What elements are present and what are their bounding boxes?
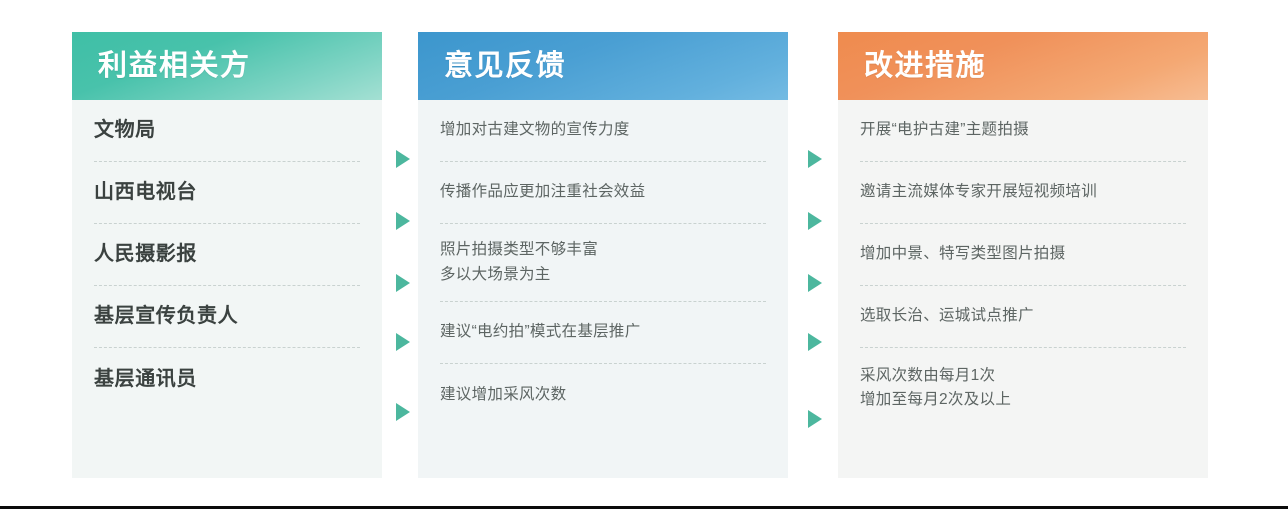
stakeholder-label: 人民摄影报	[94, 242, 197, 267]
feedback-text: 传播作品应更加注重社会效益	[440, 180, 645, 204]
column-title-measures: 改进措施	[864, 52, 986, 81]
feedback-text: 建议“电约拍”模式在基层推广	[440, 320, 641, 344]
arrow-gutter-right	[800, 32, 840, 478]
column-feedback: 意见反馈 增加对古建文物的宣传力度 传播作品应更加注重社会效益 照片拍摄类型不够…	[418, 32, 788, 478]
table-row[interactable]: 邀请主流媒体专家开展短视频培训	[860, 162, 1186, 224]
table-row[interactable]: 人民摄影报	[94, 224, 360, 286]
feedback-text: 建议增加采风次数	[440, 383, 566, 407]
table-row[interactable]: 采风次数由每月1次 增加至每月2次及以上	[860, 348, 1186, 428]
stakeholder-label: 基层宣传负责人	[94, 304, 238, 329]
table-row[interactable]: 建议增加采风次数	[440, 364, 766, 426]
stakeholder-feedback-board: 利益相关方 文物局 山西电视台 人民摄影报 基层宣传负责人 基层通讯员	[0, 0, 1288, 513]
arrow-right-icon	[808, 212, 822, 230]
measure-text: 采风次数由每月1次 增加至每月2次及以上	[860, 364, 1011, 412]
arrow-right-icon	[396, 274, 410, 292]
arrow-right-icon	[396, 403, 410, 421]
arrow-right-icon	[808, 274, 822, 292]
arrow-right-icon	[808, 410, 822, 428]
arrow-right-icon	[396, 150, 410, 168]
arrow-right-icon	[808, 150, 822, 168]
column-title-stakeholder: 利益相关方	[98, 52, 251, 81]
table-row[interactable]: 增加对古建文物的宣传力度	[440, 100, 766, 162]
table-row[interactable]: 传播作品应更加注重社会效益	[440, 162, 766, 224]
measures-rows: 开展“电护古建”主题拍摄 邀请主流媒体专家开展短视频培训 增加中景、特写类型图片…	[838, 100, 1208, 428]
column-measures: 改进措施 开展“电护古建”主题拍摄 邀请主流媒体专家开展短视频培训 增加中景、特…	[838, 32, 1208, 478]
feedback-rows: 增加对古建文物的宣传力度 传播作品应更加注重社会效益 照片拍摄类型不够丰富 多以…	[418, 100, 788, 426]
column-stakeholder: 利益相关方 文物局 山西电视台 人民摄影报 基层宣传负责人 基层通讯员	[72, 32, 382, 478]
feedback-text: 照片拍摄类型不够丰富 多以大场景为主	[440, 238, 598, 286]
stakeholder-label: 山西电视台	[94, 180, 197, 205]
feedback-text: 增加对古建文物的宣传力度	[440, 118, 630, 142]
table-row[interactable]: 文物局	[94, 100, 360, 162]
arrow-right-icon	[396, 333, 410, 351]
measure-text: 增加中景、特写类型图片拍摄	[860, 242, 1065, 266]
table-row[interactable]: 基层宣传负责人	[94, 286, 360, 348]
column-title-feedback: 意见反馈	[444, 52, 566, 81]
measure-text: 开展“电护古建”主题拍摄	[860, 118, 1029, 142]
column-header-measures: 改进措施	[838, 32, 1208, 100]
table-row[interactable]: 山西电视台	[94, 162, 360, 224]
arrow-right-icon	[396, 212, 410, 230]
table-row[interactable]: 选取长治、运城试点推广	[860, 286, 1186, 348]
stakeholder-label: 文物局	[94, 118, 156, 143]
table-row[interactable]: 照片拍摄类型不够丰富 多以大场景为主	[440, 224, 766, 302]
table-row[interactable]: 增加中景、特写类型图片拍摄	[860, 224, 1186, 286]
stakeholder-rows: 文物局 山西电视台 人民摄影报 基层宣传负责人 基层通讯员	[72, 100, 382, 410]
column-header-stakeholder: 利益相关方	[72, 32, 382, 100]
arrow-right-icon	[808, 333, 822, 351]
measure-text: 选取长治、运城试点推广	[860, 304, 1034, 328]
stakeholder-label: 基层通讯员	[94, 367, 197, 392]
table-row[interactable]: 基层通讯员	[94, 348, 360, 410]
bottom-rule	[0, 506, 1288, 509]
measure-text: 邀请主流媒体专家开展短视频培训	[860, 180, 1097, 204]
table-row[interactable]: 建议“电约拍”模式在基层推广	[440, 302, 766, 364]
column-header-feedback: 意见反馈	[418, 32, 788, 100]
table-row[interactable]: 开展“电护古建”主题拍摄	[860, 100, 1186, 162]
